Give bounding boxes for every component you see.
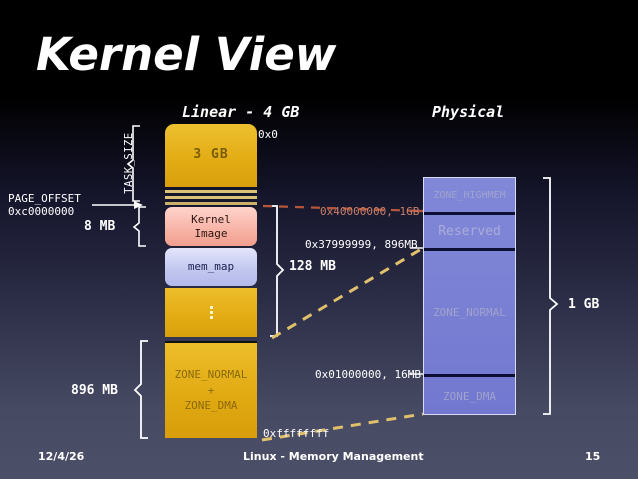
physical-segment-label: ZONE_DMA [443, 390, 496, 403]
linear-zones-label-line2: + [208, 383, 215, 399]
one-gb-brace [543, 178, 557, 414]
linear-gap-block [165, 288, 257, 337]
linear-zones-block: ZONE_NORMAL + ZONE_DMA [165, 341, 257, 438]
address-ffffffff-label: 0xffffffff [263, 427, 329, 440]
page-offset-name-label: PAGE_OFFSET [8, 192, 81, 205]
one-twenty-eight-mb-brace [270, 206, 283, 336]
physical-segment-label: Reserved [438, 224, 501, 239]
slide-canvas: Kernel View Linear - 4 GB Physical 3 GB … [0, 0, 638, 479]
address-16mb-label: 0x01000000, 16MB [315, 368, 421, 381]
linear-divider-bar-3 [165, 202, 257, 205]
one-gb-label: 1 GB [568, 297, 599, 312]
task-size-label: TASK_SIZE [123, 132, 135, 193]
physical-segment-label: ZONE_NORMAL [433, 306, 506, 319]
mem-map-label: mem_map [188, 260, 234, 274]
kernel-image-label-line2: Image [194, 227, 227, 241]
address-896mb-label: 0x37999999, 896MB [305, 238, 418, 251]
linear-zones-label-line3: ZONE_DMA [185, 398, 238, 414]
linear-column-heading: Linear - 4 GB [182, 103, 299, 121]
vertical-ellipsis-icon [210, 306, 213, 319]
kernel-image-block: Kernel Image [165, 207, 257, 246]
linear-user-space-label: 3 GB [193, 147, 228, 163]
physical-column-heading: Physical [432, 103, 504, 121]
eight-mb-brace [134, 207, 146, 246]
mem-map-block: mem_map [165, 248, 257, 286]
address-1gb-label: 0x40000000, 1GB [320, 205, 419, 218]
footer-title: Linux - Memory Management [243, 450, 424, 463]
physical-segment-reserved: Reserved [424, 214, 515, 248]
physical-memory-block: ZONE_HIGHMEM Reserved ZONE_NORMAL ZONE_D… [423, 177, 516, 415]
kernel-image-label-line1: Kernel [191, 213, 231, 227]
eight-mb-label: 8 MB [84, 219, 115, 234]
address-zero-label: 0x0 [258, 128, 278, 141]
physical-segment-zone-dma: ZONE_DMA [424, 377, 515, 415]
physical-segment-zone-normal: ZONE_NORMAL [424, 250, 515, 374]
physical-segment-label: ZONE_HIGHMEM [433, 190, 505, 201]
linear-divider-bar-2 [165, 196, 257, 199]
linear-user-space-block: 3 GB [165, 124, 257, 187]
task-size-label-wrap: TASK_SIZE [122, 125, 136, 200]
one-twenty-eight-mb-label: 128 MB [289, 259, 336, 274]
linear-divider-bar-1 [165, 190, 257, 193]
page-offset-arrowhead [134, 201, 143, 209]
page-offset-value-label: 0xc0000000 [8, 205, 74, 218]
eight-ninety-six-mb-brace [135, 341, 148, 438]
eight-ninety-six-mb-label: 896 MB [71, 383, 118, 398]
footer-date: 12/4/26 [38, 450, 84, 463]
linear-zones-label-line1: ZONE_NORMAL [175, 367, 248, 383]
footer-page-number: 15 [585, 450, 600, 463]
physical-segment-zone-highmem: ZONE_HIGHMEM [424, 178, 515, 212]
page-title: Kernel View [36, 28, 336, 81]
